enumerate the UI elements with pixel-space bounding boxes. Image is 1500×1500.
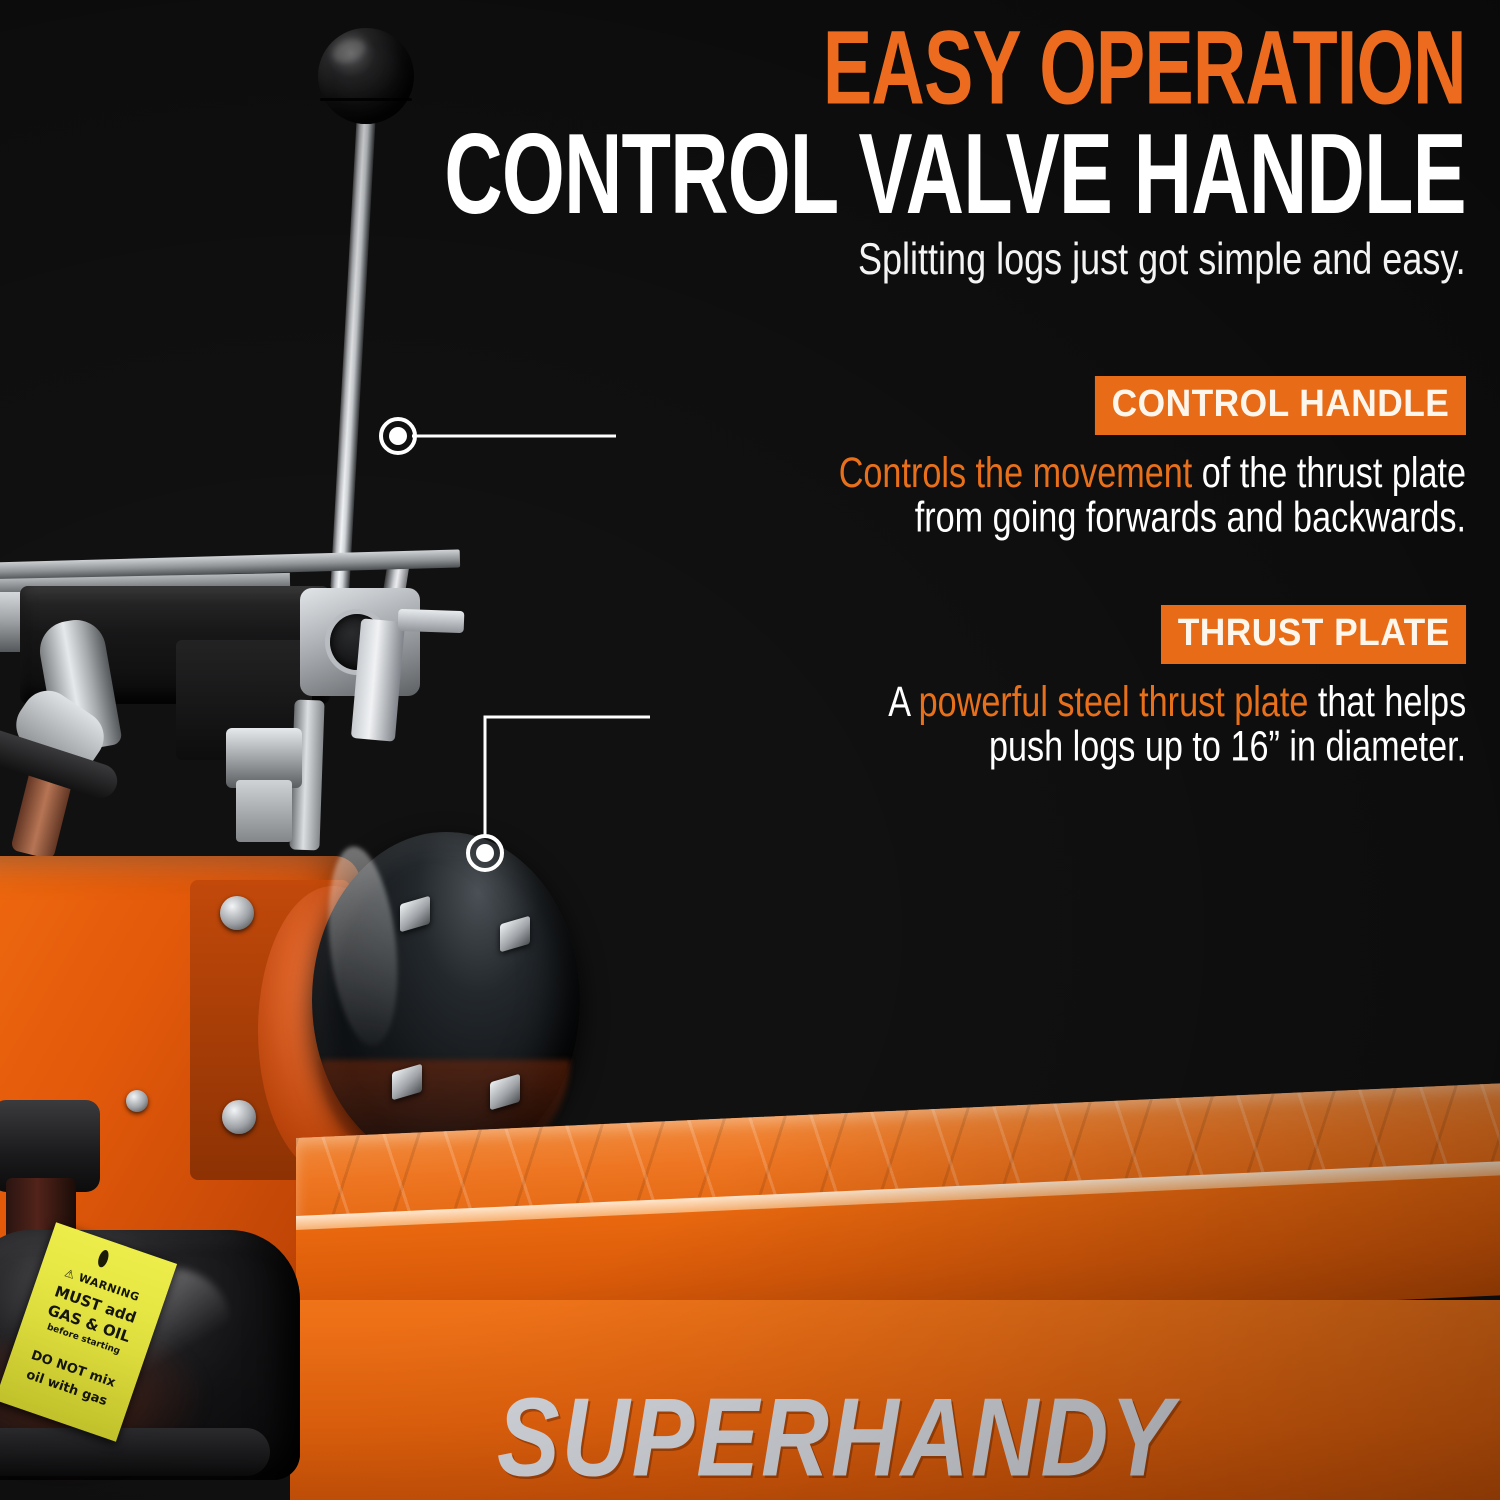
feature-desc-rest: of the thrust plate <box>1192 450 1466 497</box>
feature-desc-line-1: Controls the movement of the thrust plat… <box>839 451 1466 496</box>
hex-nut-lower <box>236 780 292 842</box>
housing-bolt <box>222 1100 256 1134</box>
feature-desc-rest: that helps <box>1308 679 1466 726</box>
feature-badge-thrust-plate: THRUST PLATE <box>1161 605 1466 664</box>
feature-desc-accent: Controls the movement <box>839 450 1193 497</box>
tag-punch-hole <box>96 1249 110 1269</box>
feature-desc-pre: A <box>888 679 918 726</box>
subtitle: Splitting logs just got simple and easy. <box>421 235 1466 285</box>
promo-image-canvas: ⚠ WARNING MUST add GAS & OIL before star… <box>0 0 1500 1500</box>
feature-desc-line-2: push logs up to 16” in diameter. <box>888 725 1466 770</box>
brand-wordmark: SUPERHANDY <box>497 1374 1175 1500</box>
feature-desc-line-1: A powerful steel thrust plate that helps <box>888 680 1466 725</box>
feature-badge-control-handle: CONTROL HANDLE <box>1095 376 1466 435</box>
housing-bolt <box>220 896 254 930</box>
housing-bolt <box>126 1090 148 1112</box>
hex-nut-upper <box>226 728 302 788</box>
valve-lever-bracket <box>351 618 405 741</box>
eyebrow-heading: EASY OPERATION <box>468 18 1466 119</box>
feature-desc-accent: powerful steel thrust plate <box>918 679 1308 726</box>
headline-block: EASY OPERATION CONTROL VALVE HANDLE Spli… <box>305 18 1466 280</box>
page-title: CONTROL VALVE HANDLE <box>445 119 1466 231</box>
feature-control-handle: CONTROL HANDLE Controls the movement of … <box>769 376 1466 532</box>
feature-description-control-handle: Controls the movement of the thrust plat… <box>839 451 1466 541</box>
feature-description-thrust-plate: A powerful steel thrust plate that helps… <box>888 680 1466 770</box>
feature-thrust-plate: THRUST PLATE A powerful steel thrust pla… <box>824 605 1466 761</box>
feature-desc-line-2: from going forwards and backwards. <box>839 496 1466 541</box>
fuel-tank-base-rim <box>0 1428 270 1476</box>
valve-stem <box>398 609 465 633</box>
